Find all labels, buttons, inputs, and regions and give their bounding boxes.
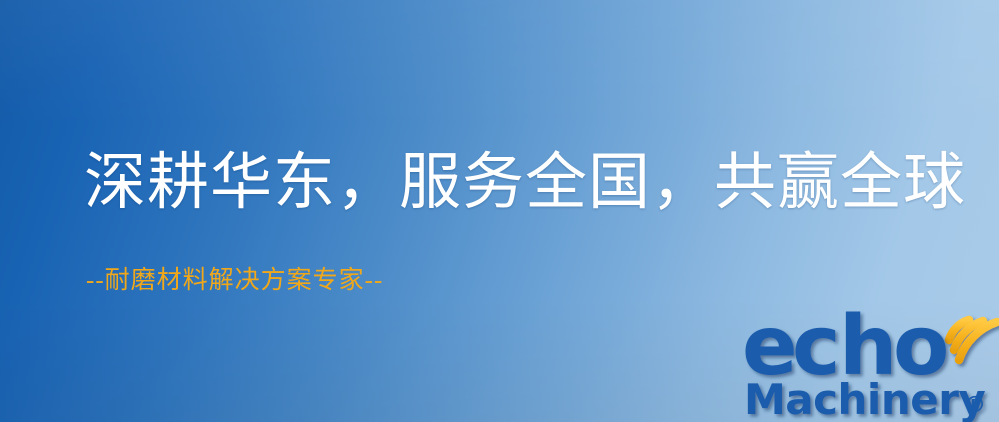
promo-banner: 深耕华东，服务全国，共赢全球 --耐磨材料解决方案专家--: [0, 0, 999, 422]
banner-subheadline: --耐磨材料解决方案专家--: [86, 266, 383, 296]
logo-registered-mark: ®: [964, 393, 986, 418]
signal-waves-icon: [949, 320, 997, 360]
logo-tagline: Machinery: [744, 375, 985, 422]
banner-headline: 深耕华东，服务全国，共赢全球: [84, 150, 966, 217]
echo-machinery-logo: e c h o Machinery ®: [740, 296, 999, 422]
